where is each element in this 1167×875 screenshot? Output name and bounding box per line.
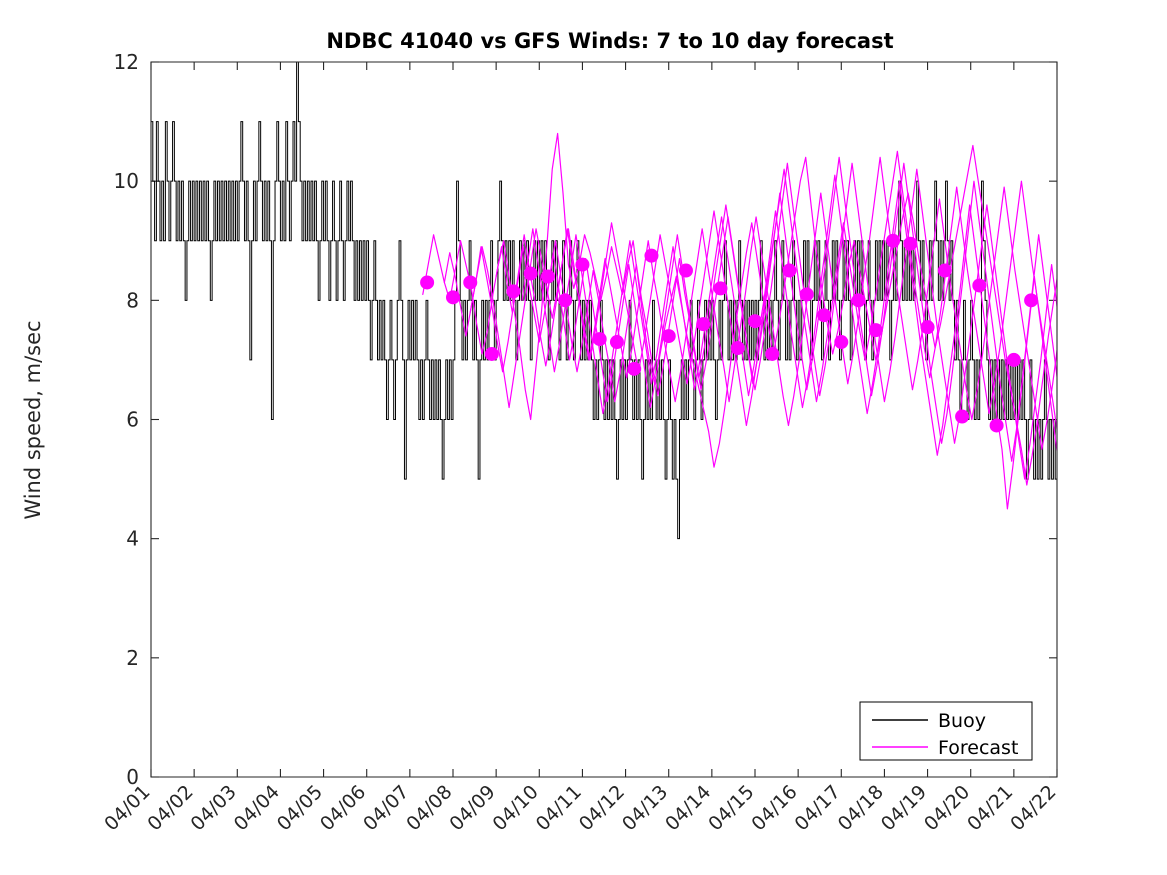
forecast-marker [731, 341, 745, 355]
forecast-marker [485, 347, 499, 361]
y-tick-label: 8 [126, 288, 139, 312]
y-tick-label: 4 [126, 527, 139, 551]
forecast-marker [869, 323, 883, 337]
y-tick-label: 2 [126, 646, 139, 670]
forecast-marker [1007, 353, 1021, 367]
forecast-marker [524, 267, 538, 281]
y-axis-label: Wind speed, m/sec [21, 320, 45, 519]
forecast-marker [783, 264, 797, 278]
y-tick-label: 12 [114, 50, 139, 74]
forecast-marker [575, 258, 589, 272]
y-tick-label: 6 [126, 408, 139, 432]
forecast-marker [1024, 293, 1038, 307]
forecast-marker [644, 249, 658, 263]
chart-title: NDBC 41040 vs GFS Winds: 7 to 10 day for… [326, 29, 893, 53]
forecast-marker [972, 278, 986, 292]
chart-legend[interactable]: BuoyForecast [860, 702, 1032, 760]
forecast-marker [817, 308, 831, 322]
forecast-marker [834, 335, 848, 349]
forecast-marker [593, 332, 607, 346]
forecast-marker [748, 314, 762, 328]
y-tick-label: 10 [114, 169, 139, 193]
legend-label-buoy: Buoy [938, 710, 986, 732]
forecast-marker [765, 347, 779, 361]
forecast-marker [662, 329, 676, 343]
forecast-marker [446, 290, 460, 304]
forecast-marker [852, 293, 866, 307]
forecast-marker [696, 317, 710, 331]
forecast-marker [990, 418, 1004, 432]
forecast-marker [955, 410, 969, 424]
forecast-marker [886, 234, 900, 248]
forecast-marker [420, 275, 434, 289]
forecast-marker [627, 362, 641, 376]
forecast-marker [713, 281, 727, 295]
forecast-marker [800, 287, 814, 301]
forecast-marker [541, 270, 555, 284]
legend-label-forecast: Forecast [938, 737, 1018, 759]
forecast-marker [610, 335, 624, 349]
forecast-marker [903, 237, 917, 251]
forecast-marker [558, 293, 572, 307]
forecast-marker [938, 264, 952, 278]
forecast-marker [506, 284, 520, 298]
chart-figure: NDBC 41040 vs GFS Winds: 7 to 10 day for… [0, 0, 1167, 875]
forecast-marker [463, 275, 477, 289]
forecast-marker [921, 320, 935, 334]
forecast-marker [679, 264, 693, 278]
chart-svg: NDBC 41040 vs GFS Winds: 7 to 10 day for… [0, 0, 1167, 875]
